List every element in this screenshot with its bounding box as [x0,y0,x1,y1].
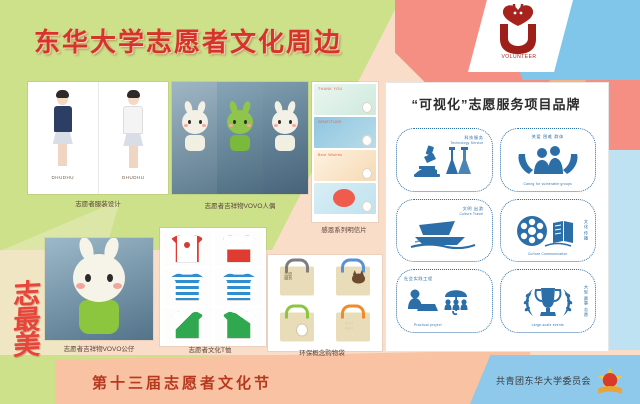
volunteer-u-logo: VOLUNTEER [482,4,554,66]
caption-vovo-doll: 志愿者吉祥物VOVO公仔 [40,343,158,353]
fashion-brand-tag-1: DHUDHU [52,175,75,180]
brand-label-cn-5: 大型 赛事 志愿 [583,285,589,317]
postcard-title-2: GRATITUDE [318,120,342,124]
caption-shopping-bags: 环保概念购物袋 [266,347,378,357]
caption-tshirts: 志愿者文化T恤 [158,344,262,354]
brand-panel-title: “可视化”志愿服务项目品牌 [385,94,607,113]
mascot-photo-1 [172,82,217,194]
caption-mascot-costume: 志愿者吉祥物VOVO人偶 [172,200,308,210]
festival-title: 第十三届志愿者文化节 [92,372,272,393]
exhibit-mascot-costume[interactable] [172,82,308,194]
brand-item-caring-groups[interactable]: 关爱 困难 群体 Caring for vulnerable groups [500,128,597,192]
brand-item-large-scale-events[interactable]: 大型 赛事 志愿 Large-scale events [500,269,597,333]
brand-item-practical-project[interactable]: 社会实践工程 Practical project [396,269,493,333]
tshirt-6 [215,308,264,343]
brand-label-en-5: Large-scale events [532,323,564,327]
film-book-icon [515,215,581,249]
brand-label-cn-4: 社会实践工程 [404,276,433,282]
shopping-bag-4: ECOBAG [327,305,380,349]
calligraphy-block: 志 最 美 [4,282,50,359]
brand-icon-grid: 科技服务 Technology Service 关爱 困难 群体 Caring … [396,128,596,333]
caption-fashion-design: 志愿者服装设计 [28,198,168,208]
shopping-bag-3 [271,305,324,349]
boat-icon [409,215,479,249]
brand-item-culture-communication[interactable]: 文化 传播 Culture Communication [500,199,597,263]
exhibit-fashion-design[interactable]: DHUDHU DHUDHU [28,82,168,194]
brand-label-cn-1: 关爱 困难 群体 [532,134,564,140]
caring-hands-icon [515,144,581,178]
postcard-title-1: THANK YOU [318,87,343,91]
shopping-bag-1: 志愿服务 [271,258,324,302]
brand-item-technology-service[interactable]: 科技服务 Technology Service [396,128,493,192]
postcard-2: GRATITUDE [314,117,376,148]
brand-item-culture-travel[interactable]: 文明 出游 Culture Travel [396,199,493,263]
brand-label-en-4: Practical project [414,323,442,327]
poster-canvas: 东华大学志愿者文化周边 VOLUNTEER DHUDHU [0,0,640,404]
brand-label-cn-3: 文化 传播 [583,220,589,241]
trophy-laurel-icon [513,284,583,320]
fashion-figure-2: DHUDHU [99,82,169,194]
logo-wordmark: VOLUNTEER [488,54,550,60]
tshirt-4 [215,269,264,304]
umbrella-people-icon [405,285,483,319]
exhibit-tshirts[interactable] [160,228,266,346]
tshirt-5 [163,308,212,343]
caption-postcards: 感恩系列明信片 [300,224,388,234]
vovo-doll-figure [73,254,125,334]
brand-label-en-3: Culture Communication [528,252,568,256]
tshirt-1 [163,231,212,266]
postcard-4 [314,183,376,214]
volunteer-u-icon [482,4,554,56]
postcard-3: Best Wishes [314,150,376,181]
calligraphy-char-3: 美 [3,332,51,360]
page-title: 东华大学志愿者文化周边 [34,22,342,59]
postcard-1: THANK YOU [314,84,376,115]
exhibit-shopping-bags[interactable]: 志愿服务 ECOBAG [268,255,382,351]
brand-label-en-1: Caring for vulnerable groups [523,182,572,186]
tshirt-3 [163,269,212,304]
shopping-bag-2 [327,258,380,302]
fashion-brand-tag-2: DHUDHU [122,175,145,180]
mascot-photo-3 [263,82,308,194]
exhibit-postcards[interactable]: THANK YOU GRATITUDE Best Wishes [312,82,378,222]
organization-seal-icon [592,364,628,400]
organization-name: 共青团东华大学委员会 [496,374,591,387]
tshirt-2 [215,231,264,266]
fashion-figure-1: DHUDHU [28,82,99,194]
mascot-photo-2 [217,82,262,194]
microscope-icon [411,144,477,178]
postcard-title-3: Best Wishes [318,153,342,157]
exhibit-vovo-doll[interactable] [45,238,153,340]
